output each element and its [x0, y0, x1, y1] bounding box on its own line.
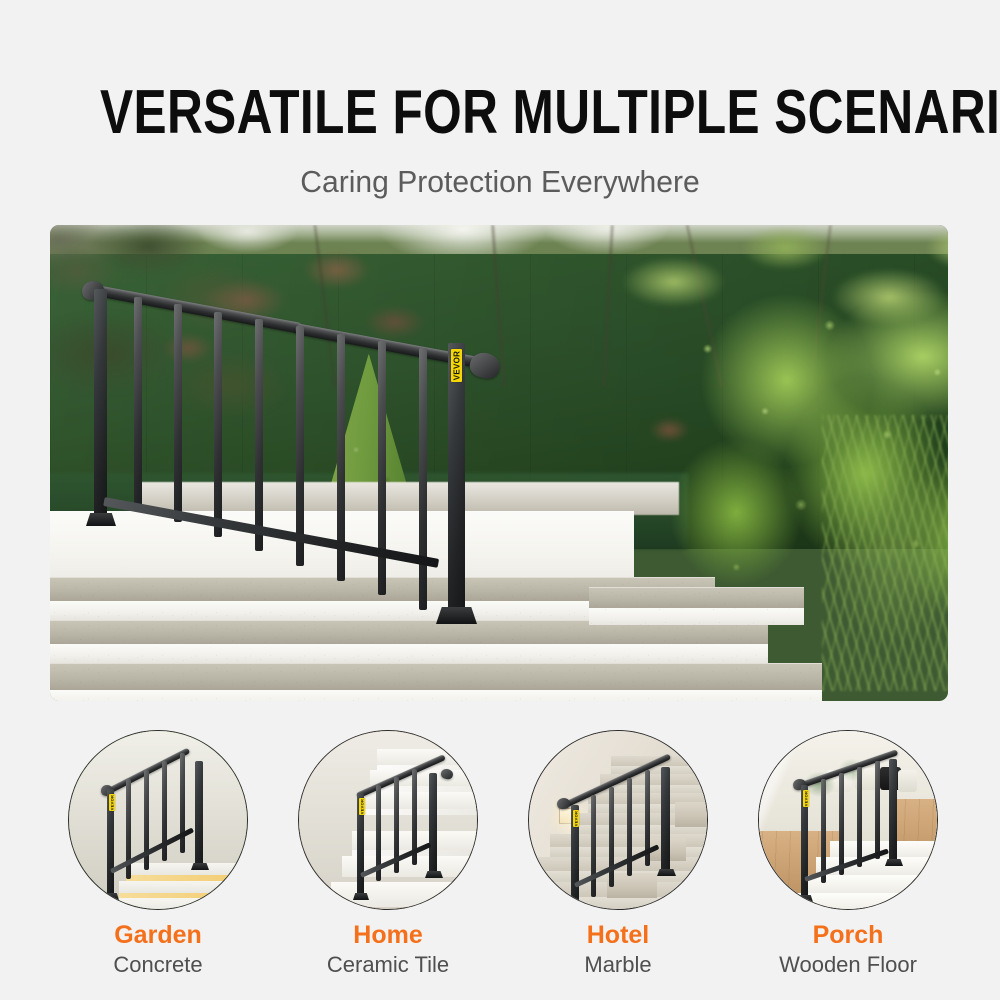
railing-post-right [448, 343, 465, 615]
page-subtitle: Caring Protection Everywhere [15, 163, 985, 201]
garden-vevor-badge: VEVOR [109, 794, 115, 811]
porch-baluster-4 [875, 761, 880, 859]
scenario-surface-porch: Wooden Floor [758, 952, 938, 978]
baluster-1 [134, 297, 142, 509]
scenario-title-home: Home [298, 921, 478, 949]
handrail-lower-endcap [467, 350, 502, 382]
hotel-block-1 [675, 802, 708, 827]
porch-post-right [889, 759, 897, 863]
scenario-card-garden[interactable]: VEVOR Garden Concrete [68, 730, 248, 978]
scenario-surface-garden: Concrete [68, 952, 248, 978]
home-baseplate-left [353, 893, 369, 900]
garden-step-2 [119, 881, 248, 893]
railing-post-right-baseplate [436, 607, 477, 624]
porch-vevor-text: VEVOR [804, 791, 809, 807]
railing-bottom-rail [103, 497, 439, 568]
scenario-thumb-hotel[interactable]: VEVOR [528, 730, 708, 910]
home-vevor-text: VEVOR [360, 799, 365, 815]
hotel-block-3 [607, 873, 657, 898]
hotel-baseplate-right [657, 869, 676, 876]
porch-baluster-1 [821, 779, 826, 883]
scenario-title-porch: Porch [758, 921, 938, 949]
garden-vevor-text: VEVOR [110, 795, 115, 811]
scenario-card-hotel[interactable]: VEVOR Hotel Marble [528, 730, 708, 978]
garden-baseplate-left [103, 893, 119, 900]
vevor-brand-badge: VEVOR [451, 349, 462, 382]
hotel-post-right [661, 767, 670, 873]
scenario-title-garden: Garden [68, 921, 248, 949]
porch-baseplate-right [885, 859, 903, 866]
baluster-3 [214, 312, 222, 537]
garden-post-right [195, 761, 203, 867]
scenario-thumb-home[interactable]: VEVOR [298, 730, 478, 910]
garden-baseplate-right [191, 863, 209, 870]
hotel-baseplate-left [567, 905, 585, 910]
railing-post-left-baseplate [86, 513, 116, 526]
scenario-surface-home: Ceramic Tile [298, 952, 478, 978]
scenario-card-porch[interactable]: VEVOR Porch Wooden Floor [758, 730, 938, 978]
baluster-2 [174, 304, 182, 522]
hotel-vevor-text: VEVOR [574, 811, 579, 827]
porch-vevor-badge: VEVOR [803, 790, 809, 807]
baluster-8 [419, 348, 427, 610]
porch-baluster-3 [857, 767, 862, 867]
hero-image: VEVOR [50, 225, 948, 701]
home-stair-6 [331, 882, 478, 907]
page-title: VERSATILE FOR MULTIPLE SCENARIOS [100, 82, 900, 144]
scenario-row: VEVOR Garden Concrete [50, 730, 950, 980]
baluster-4 [255, 319, 263, 551]
home-post-right [429, 773, 437, 875]
home-vevor-badge: VEVOR [359, 798, 365, 815]
vevor-brand-text: VEVOR [452, 351, 461, 381]
scenario-thumb-garden[interactable]: VEVOR [68, 730, 248, 910]
porch-baseplate-left [797, 895, 813, 902]
hotel-vevor-badge: VEVOR [573, 810, 579, 827]
home-baseplate-right [425, 871, 443, 878]
handrail-upper-segment [95, 285, 303, 334]
product-feature-page: VERSATILE FOR MULTIPLE SCENARIOS Caring … [0, 0, 1000, 1000]
hero-railing: VEVOR [50, 225, 948, 701]
scenario-surface-hotel: Marble [528, 952, 708, 978]
garden-step-3 [112, 898, 248, 910]
railing-post-left [94, 289, 107, 521]
porch-baluster-2 [839, 773, 844, 875]
hotel-baluster-1 [591, 795, 596, 897]
scenario-card-home[interactable]: VEVOR Home Ceramic Tile [298, 730, 478, 978]
baluster-5 [296, 326, 304, 566]
scenario-title-hotel: Hotel [528, 921, 708, 949]
scenario-thumb-porch[interactable]: VEVOR [758, 730, 938, 910]
